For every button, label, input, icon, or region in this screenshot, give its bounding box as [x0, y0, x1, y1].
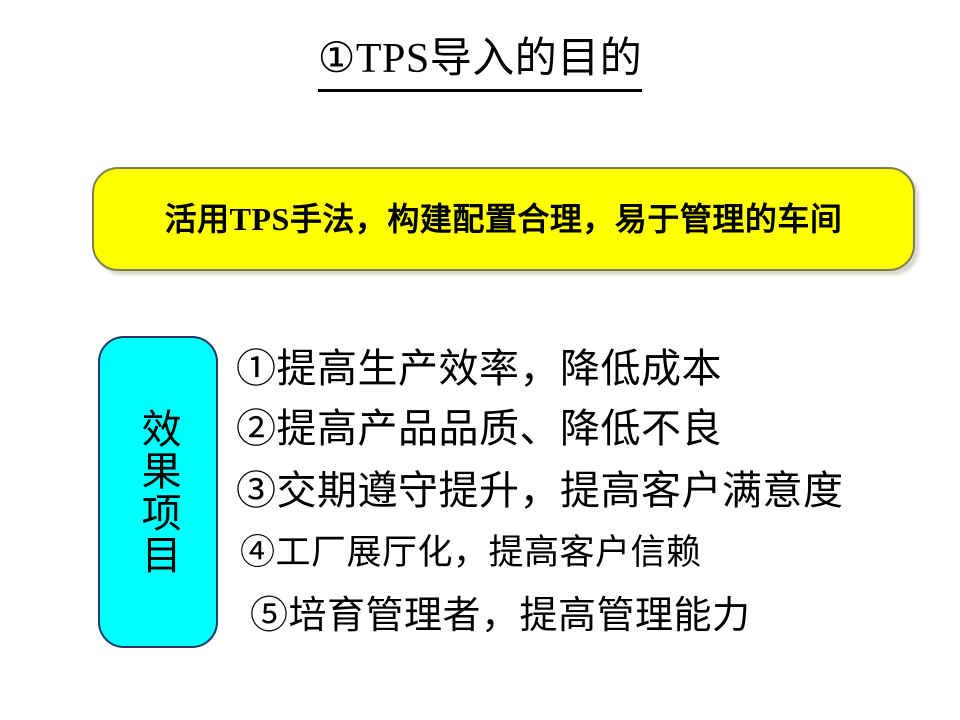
slide-canvas: ①TPS导入的目的 活用TPS手法，构建配置合理，易于管理的车间 效果项目 ①提… [0, 0, 960, 720]
list-item: ①提高生产效率，降低成本 [236, 336, 722, 394]
list-item: ⑤培育管理者，提高管理能力 [250, 584, 751, 639]
goal-banner: 活用TPS手法，构建配置合理，易于管理的车间 [92, 167, 915, 271]
list-item: ④工厂展厅化，提高客户信赖 [240, 524, 702, 575]
page-title: ①TPS导入的目的 [0, 34, 960, 92]
goal-banner-text: 活用TPS手法，构建配置合理，易于管理的车间 [165, 200, 843, 238]
effect-category-label-box: 效果项目 [98, 336, 218, 648]
effect-category-label-text: 效果项目 [134, 408, 181, 576]
page-title-text: ①TPS导入的目的 [318, 34, 643, 92]
list-item: ③交期遵守提升，提高客户满意度 [236, 458, 844, 516]
list-item: ②提高产品品质、降低不良 [236, 396, 722, 454]
effect-item-list: ①提高生产效率，降低成本 ②提高产品品质、降低不良 ③交期遵守提升，提高客户满意… [236, 334, 936, 654]
